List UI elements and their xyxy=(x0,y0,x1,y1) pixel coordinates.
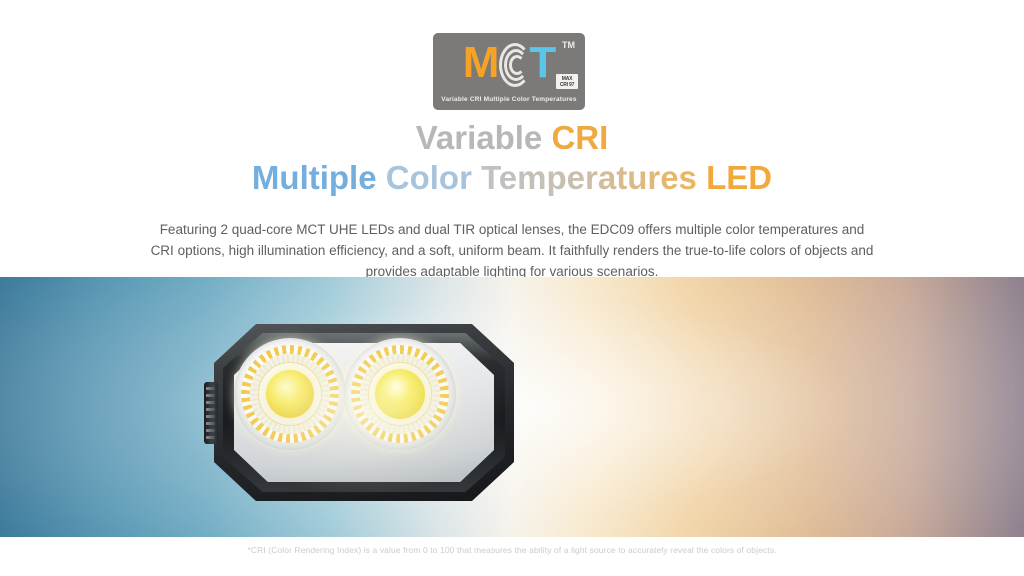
description-paragraph: Featuring 2 quad-core MCT UHE LEDs and d… xyxy=(147,219,877,282)
title-word-led: LED xyxy=(706,159,772,196)
page-title-line-2: Multiple Color Temperatures LED xyxy=(0,158,1024,198)
mct-logo-badge: M T TM MAX CRI 97 Variable CRI Multiple … xyxy=(433,33,585,110)
led-core-left xyxy=(266,370,314,418)
page-title-line-1: Variable CRI xyxy=(0,118,1024,158)
trademark-icon: TM xyxy=(562,40,575,50)
header-section: M T TM MAX CRI 97 Variable CRI Multiple … xyxy=(0,0,1024,277)
title-word-color: Color xyxy=(386,159,472,196)
tir-lens-left xyxy=(234,338,346,450)
led-core-right xyxy=(375,369,425,419)
title-word-multiple: Multiple xyxy=(252,159,377,196)
led-module-connector-icon xyxy=(204,382,218,444)
tir-lens-right xyxy=(344,338,456,450)
logo-letter-m: M xyxy=(463,41,498,85)
logo-letter-c-arcs-icon xyxy=(499,43,527,83)
product-feature-page: M T TM MAX CRI 97 Variable CRI Multiple … xyxy=(0,0,1024,576)
footnote-cri-definition: *CRI (Color Rendering Index) is a value … xyxy=(0,545,1024,555)
led-module-image xyxy=(214,324,514,501)
title-word-variable: Variable xyxy=(416,119,543,156)
title-word-temperatures: Temperatures xyxy=(481,159,697,196)
max-cri-badge-line2: CRI 97 xyxy=(560,82,574,88)
logo-letter-t: T xyxy=(529,41,555,85)
hero-gradient-band: High-CRI Core High-Efficiency Core xyxy=(0,277,1024,537)
logo-tagline: Variable CRI Multiple Color Temperatures xyxy=(433,96,585,103)
title-word-cri: CRI xyxy=(551,119,608,156)
max-cri-badge: MAX CRI 97 xyxy=(556,74,578,89)
page-title: Variable CRI Multiple Color Temperatures… xyxy=(0,118,1024,198)
